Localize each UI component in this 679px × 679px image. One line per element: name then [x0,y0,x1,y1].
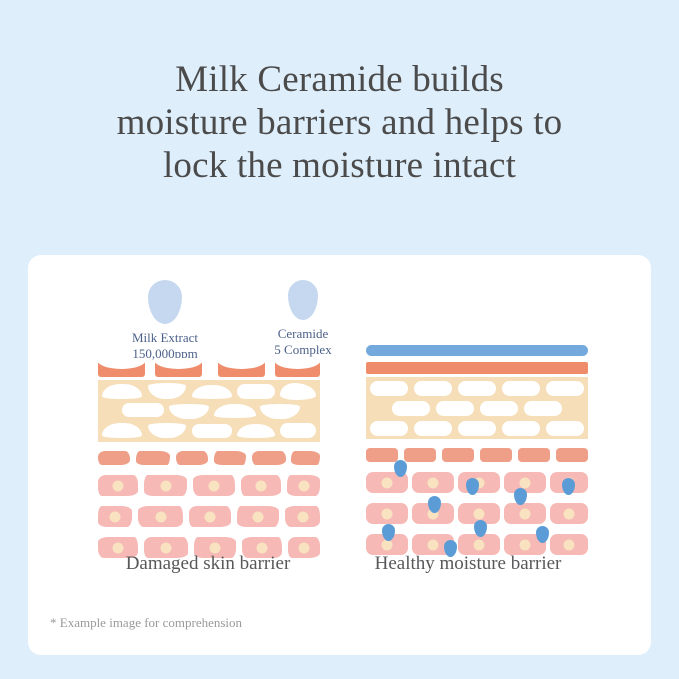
cell-nucleus [564,508,575,519]
cell-nucleus [205,511,216,522]
corneocyte [524,401,562,416]
cell-nucleus [113,542,124,553]
cell-nucleus [253,511,264,522]
cell-nucleus [428,539,439,550]
corneocyte [214,404,256,418]
corneocyte [458,421,496,436]
cell-nucleus [564,539,575,550]
corneocyte [370,381,408,396]
corneocyte [480,401,518,416]
ingredient-milk-extract: Milk Extract 150,000ppm [90,280,240,362]
cell-nucleus [210,542,221,553]
cell-nucleus [209,480,220,491]
ingredient-ceramide-label: Ceramide 5 Complex [228,326,378,358]
corneocyte [458,381,496,396]
ingredient-milk-extract-name: Milk Extract [90,330,240,346]
basal-cell [136,451,170,465]
skin-cell [458,472,500,493]
ingredient-ceramide: Ceramide 5 Complex [228,280,378,358]
skin-cell [237,506,279,527]
corneocyte [546,421,584,436]
barrier-segment [218,360,265,377]
basal-cell [518,448,550,462]
corneocyte [148,383,186,399]
basal-cell [404,448,436,462]
cell-nucleus [110,511,121,522]
cell-nucleus [160,480,171,491]
cell-nucleus [428,477,439,488]
skin-cell [144,475,187,496]
caption-healthy-skin: Healthy moisture barrier [328,553,608,575]
skin-cell [550,534,588,555]
barrier-segment [98,360,145,377]
corneocyte [392,401,430,416]
skin-cell [287,475,320,496]
corneocyte [169,404,209,419]
barrier-layer-intact [366,362,588,374]
corneocyte [192,424,232,438]
cell-nucleus [257,542,268,553]
basal-cell [480,448,512,462]
page-title-line-1: Milk Ceramide builds [0,58,679,101]
corneocyte [280,383,316,400]
skin-cell [412,472,454,493]
corneocyte [102,423,142,438]
cell-nucleus [520,477,531,488]
skin-cell [189,506,231,527]
basal-cell [214,451,246,465]
basal-cell [366,448,398,462]
corneocyte [414,381,452,396]
protective-moisture-layer [366,345,588,356]
cell-nucleus [520,508,531,519]
caption-damaged-skin: Damaged skin barrier [68,553,348,575]
page-title-line-2: moisture barriers and helps to [0,101,679,144]
barrier-segment [155,360,202,377]
basal-cell [442,448,474,462]
skin-cell [504,503,546,524]
diagram-healthy-skin [366,345,588,556]
corneocyte [122,403,164,417]
basal-cell [176,451,208,465]
cell-nucleus [161,542,172,553]
cell-nucleus [297,511,308,522]
cell-nucleus [113,480,124,491]
water-droplet-icon [288,280,318,320]
cell-nucleus [155,511,166,522]
diagram-damaged-skin [98,360,320,559]
water-droplet-icon [148,280,182,324]
skin-cell [285,506,320,527]
corneocyte [502,421,540,436]
corneocyte [436,401,474,416]
skin-cell [458,534,500,555]
basal-cell [252,451,286,465]
dermis-cells-healthy [366,472,588,556]
corneocyte [546,381,584,396]
skin-cell [98,475,138,496]
cell-nucleus [256,480,267,491]
cell-nucleus [382,508,393,519]
barrier-segment [275,360,320,377]
basal-cell [291,451,320,465]
skin-cell [138,506,183,527]
corneocyte [237,424,275,438]
corneocyte [414,421,452,436]
skin-cell [193,475,235,496]
corneocyte [192,385,232,399]
skin-cell [98,506,132,527]
moisture-droplet-icon [536,526,549,543]
page-title-line-3: lock the moisture intact [0,144,679,187]
skin-cell [550,503,588,524]
skin-cell [241,475,281,496]
broken-barrier-layer [98,360,320,377]
footnote: * Example image for comprehension [50,615,242,631]
corneocyte [280,423,316,438]
lipid-layer-damaged [98,380,320,442]
illustration-card: Milk Extract 150,000ppm Ceramide 5 Compl… [28,255,651,655]
ingredient-ceramide-amount: 5 Complex [228,342,378,358]
ingredient-ceramide-name: Ceramide [228,326,378,342]
cell-nucleus [474,539,485,550]
skin-cell [366,503,408,524]
basal-cell [98,451,130,465]
cell-nucleus [382,477,393,488]
corneocyte [148,423,186,438]
cell-nucleus [520,539,531,550]
corneocyte [502,381,540,396]
cell-nucleus [298,480,309,491]
corneocyte [370,421,408,436]
corneocyte [102,384,142,399]
lipid-layer-healthy [366,377,588,439]
cell-nucleus [299,542,310,553]
basal-cell [556,448,588,462]
cell-nucleus [474,508,485,519]
corneocyte [260,404,300,419]
basal-layer-damaged [98,451,320,466]
page-title: Milk Ceramide builds moisture barriers a… [0,58,679,187]
corneocyte [237,384,275,399]
dermis-cells-damaged [98,475,320,559]
